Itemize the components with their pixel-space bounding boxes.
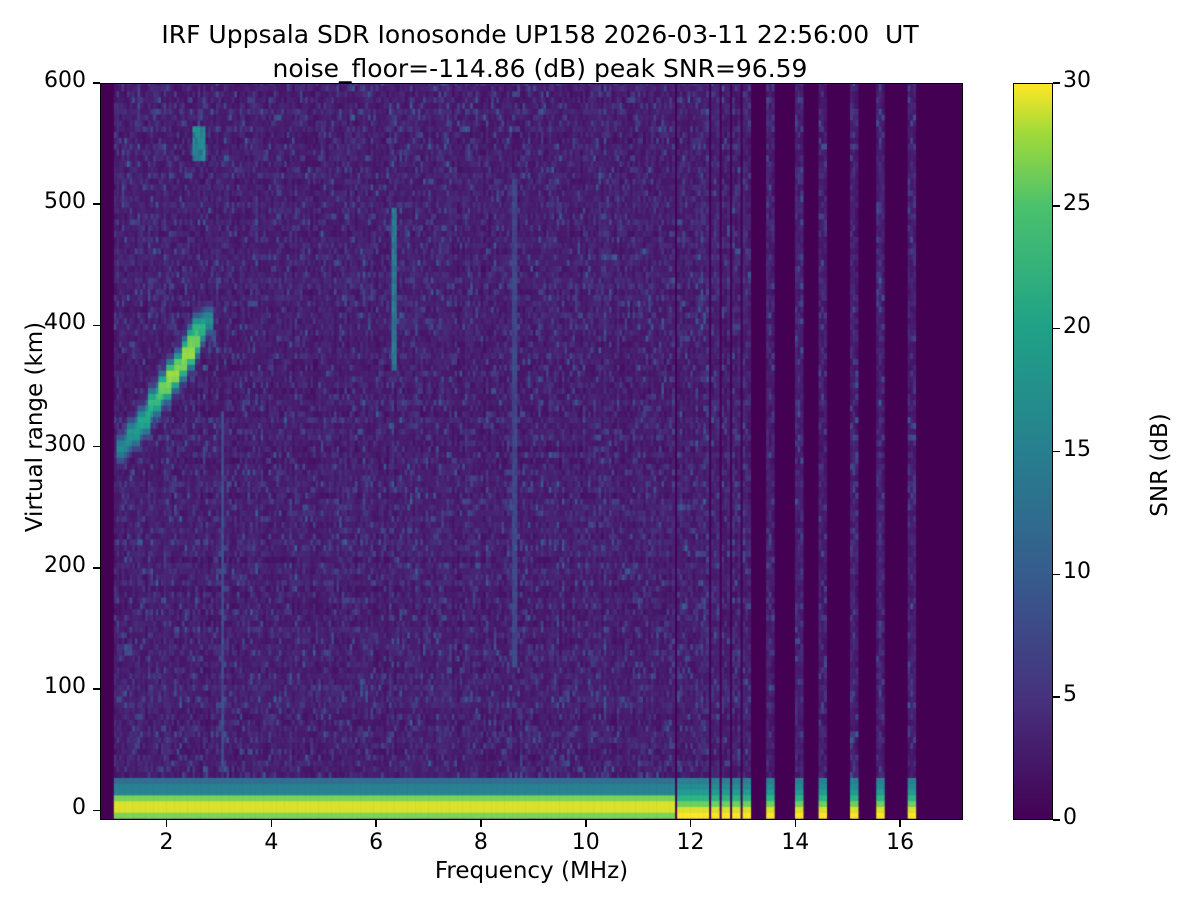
colorbar-ticklabel-30: 30: [1063, 68, 1091, 93]
x-ticklabel-6: 6: [336, 830, 416, 855]
colorbar-ticklabel-5: 5: [1063, 682, 1077, 707]
colorbar-ticklabel-0: 0: [1063, 805, 1077, 830]
snr-colorbar[interactable]: [1013, 83, 1053, 820]
x-tick-4: [271, 820, 273, 827]
colorbar-tick-15: [1053, 451, 1060, 453]
x-ticklabel-4: 4: [231, 830, 311, 855]
x-tick-12: [690, 820, 692, 827]
x-tick-6: [375, 820, 377, 827]
colorbar-label: SNR (dB): [1147, 335, 1173, 595]
colorbar-tick-30: [1053, 82, 1060, 84]
x-tick-8: [480, 820, 482, 827]
colorbar-tick-5: [1053, 696, 1060, 698]
y-tick-600: [93, 82, 100, 84]
colorbar-gradient: [1014, 84, 1052, 819]
colorbar-tick-20: [1053, 328, 1060, 330]
y-tick-400: [93, 325, 100, 327]
x-ticklabel-10: 10: [546, 830, 626, 855]
colorbar-tick-0: [1053, 819, 1060, 821]
y-axis-label: Virtual range (km): [22, 207, 48, 647]
y-tick-0: [93, 810, 100, 812]
y-ticklabel-200: 200: [0, 553, 86, 578]
x-ticklabel-16: 16: [860, 830, 940, 855]
x-ticklabel-8: 8: [441, 830, 521, 855]
colorbar-tick-10: [1053, 574, 1060, 576]
y-ticklabel-100: 100: [0, 674, 86, 699]
x-tick-2: [166, 820, 168, 827]
colorbar-ticklabel-15: 15: [1063, 437, 1091, 462]
x-tick-10: [585, 820, 587, 827]
figure-title: IRF Uppsala SDR Ionosonde UP158 2026-03-…: [0, 18, 1080, 86]
y-tick-100: [93, 688, 100, 690]
y-ticklabel-500: 500: [0, 189, 86, 214]
y-tick-200: [93, 567, 100, 569]
x-axis-label: Frequency (MHz): [100, 858, 963, 884]
colorbar-ticklabel-20: 20: [1063, 314, 1091, 339]
y-tick-500: [93, 203, 100, 205]
y-ticklabel-300: 300: [0, 432, 86, 457]
x-tick-14: [795, 820, 797, 827]
y-ticklabel-400: 400: [0, 310, 86, 335]
x-ticklabel-12: 12: [651, 830, 731, 855]
y-ticklabel-600: 600: [0, 68, 86, 93]
colorbar-ticklabel-10: 10: [1063, 559, 1091, 584]
title-line-2: noise_floor=-114.86 (dB) peak SNR=96.59: [0, 52, 1080, 86]
ionogram-plot-area[interactable]: [100, 83, 963, 820]
ionogram-heatmap: [101, 84, 963, 820]
title-line-1: IRF Uppsala SDR Ionosonde UP158 2026-03-…: [0, 18, 1080, 52]
y-ticklabel-0: 0: [0, 795, 86, 820]
ionogram-figure: IRF Uppsala SDR Ionosonde UP158 2026-03-…: [0, 0, 1200, 900]
x-ticklabel-14: 14: [755, 830, 835, 855]
x-tick-16: [899, 820, 901, 827]
colorbar-ticklabel-25: 25: [1063, 191, 1091, 216]
y-tick-300: [93, 446, 100, 448]
colorbar-tick-25: [1053, 205, 1060, 207]
x-ticklabel-2: 2: [127, 830, 207, 855]
